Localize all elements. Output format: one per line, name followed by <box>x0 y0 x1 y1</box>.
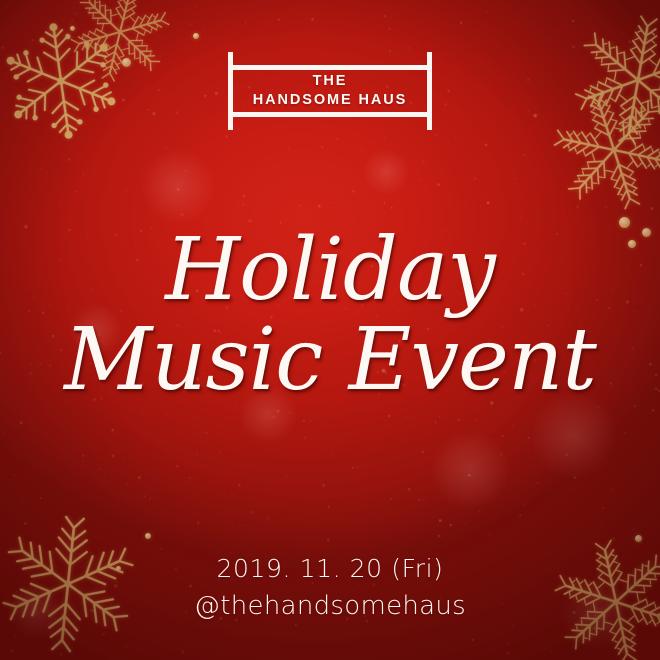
headline-line-music-event: Music Event <box>0 318 660 402</box>
snowflake-top-left-large <box>0 14 128 147</box>
logo-frame-bottom-rule <box>233 112 427 117</box>
gold-dot-7 <box>145 533 151 539</box>
gold-dot-1 <box>122 58 131 67</box>
logo-text-block: THE HANDSOME HAUS <box>233 70 427 112</box>
snowflake-top-left-small <box>62 0 178 90</box>
gold-dot-3 <box>70 26 75 31</box>
logo-line-the: THE <box>313 73 348 90</box>
gold-dot-4 <box>619 217 630 228</box>
bokeh-4 <box>239 385 297 443</box>
bokeh-5 <box>70 304 122 356</box>
holiday-event-poster: THE HANDSOME HAUS Holiday Music Event 20… <box>0 0 660 660</box>
bokeh-6 <box>363 149 409 195</box>
bokeh-8 <box>9 585 63 639</box>
bokeh-2 <box>431 431 509 509</box>
gold-dot-9 <box>635 535 642 542</box>
snowflake-top-right-lower <box>541 77 660 223</box>
headline-block: Holiday Music Event <box>0 228 660 403</box>
headline-line-holiday: Holiday <box>0 228 660 312</box>
gold-dot-2 <box>193 33 199 39</box>
footer-block: 2019. 11. 20 (Fri) @thehandsomehaus <box>0 552 660 623</box>
snowflake-top-right-upper <box>566 8 660 152</box>
snowflake-bottom-left <box>0 514 138 655</box>
gold-dot-8 <box>116 566 121 571</box>
snowflake-bottom-right <box>545 531 660 660</box>
gold-dot-5 <box>642 228 651 237</box>
bokeh-1 <box>141 149 215 223</box>
gold-dot-6 <box>628 240 636 248</box>
brand-logo: THE HANDSOME HAUS <box>228 52 432 130</box>
social-handle: @thehandsomehaus <box>0 589 660 624</box>
bokeh-3 <box>531 393 617 479</box>
logo-line-handsome-haus: HANDSOME HAUS <box>253 92 407 109</box>
bokeh-7 <box>561 579 631 649</box>
event-date: 2019. 11. 20 (Fri) <box>0 552 660 586</box>
logo-frame-right-bar <box>427 52 432 130</box>
